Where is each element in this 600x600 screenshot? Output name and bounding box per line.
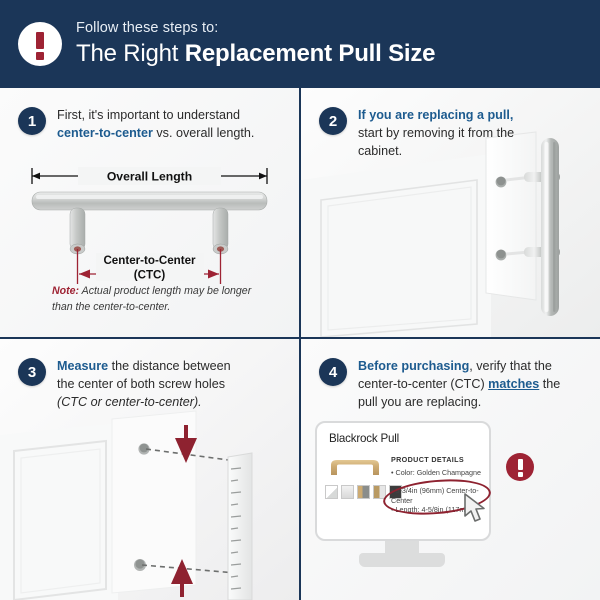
- note-body: Actual product length may be longer than…: [52, 285, 251, 313]
- step-4-text: Before purchasing, verify that the cente…: [358, 357, 583, 411]
- step-panel-2: 2 If you are replacing a pull, start by …: [301, 88, 600, 337]
- vertical-divider: [299, 88, 301, 600]
- step-panel-3: 3 Measure the distance between the cente…: [0, 339, 299, 600]
- step-2-text-part-1: If you are replacing a pull,: [358, 108, 513, 122]
- product-name: Blackrock Pull: [329, 432, 399, 445]
- step-number-1: 1: [18, 107, 46, 135]
- steps-grid: 1 First, it's important to understand ce…: [0, 88, 600, 600]
- header-banner: Follow these steps to: The Right Replace…: [0, 0, 600, 88]
- monitor-base: [359, 553, 445, 567]
- step-1-text-part-1: First, it's important to understand: [57, 108, 240, 122]
- step-panel-1: 1 First, it's important to understand ce…: [0, 88, 299, 337]
- header-text: Follow these steps to: The Right Replace…: [76, 20, 435, 67]
- step-1-text: First, it's important to understand cent…: [57, 106, 285, 142]
- step-2-head: 2 If you are replacing a pull, start by …: [301, 88, 600, 160]
- step-1-text-part-3: vs. overall length.: [153, 126, 255, 140]
- page-title: The Right Replacement Pull Size: [76, 41, 435, 67]
- title-light: The Right: [76, 40, 185, 67]
- title-bold: Replacement Pull Size: [185, 40, 436, 67]
- step-2-text: If you are replacing a pull, start by re…: [358, 106, 523, 160]
- detail-value-color: Golden Champagne: [417, 468, 481, 477]
- step-3-text-part-1: Measure: [57, 359, 108, 373]
- product-image: [327, 453, 383, 479]
- step-3-text: Measure the distance between the center …: [57, 357, 247, 411]
- product-page-illustration: Blackrock Pull: [301, 415, 600, 595]
- note-text: Note: Actual product length may be longe…: [52, 284, 267, 316]
- step-number-2: 2: [319, 107, 347, 135]
- mouse-pointer-icon: [463, 493, 489, 525]
- thumbnail-1[interactable]: [325, 485, 338, 499]
- product-details-heading: PRODUCT DETAILS: [391, 455, 464, 464]
- step-4-text-part-1: Before purchasing: [358, 359, 469, 373]
- step-panel-4: 4 Before purchasing, verify that the cen…: [301, 339, 600, 600]
- infographic-page: Follow these steps to: The Right Replace…: [0, 0, 600, 600]
- exclamation-icon: [18, 22, 62, 66]
- matches-link[interactable]: matches: [488, 377, 539, 391]
- step-2-text-part-2: start by removing it from the cabinet.: [358, 126, 514, 158]
- step-number-4: 4: [319, 358, 347, 386]
- header-kicker: Follow these steps to:: [76, 20, 435, 37]
- step-number-3: 3: [18, 358, 46, 386]
- overall-length-label: Overall Length: [107, 170, 192, 184]
- monitor-screen: Blackrock Pull: [315, 421, 491, 541]
- step-3-text-part-3: (CTC or center-to-center).: [57, 395, 202, 409]
- step-1-text-part-2: center-to-center: [57, 126, 153, 140]
- ctc-label-line1: Center-to-Center: [103, 254, 196, 267]
- exclamation-badge-icon: [506, 453, 534, 481]
- ctc-label-line2: (CTC): [134, 269, 166, 282]
- thumbnail-2[interactable]: [341, 485, 354, 499]
- product-detail-color: • Color:Golden Champagne: [391, 468, 487, 478]
- thumbnail-3[interactable]: [357, 485, 370, 499]
- step-4-head: 4 Before purchasing, verify that the cen…: [301, 339, 600, 411]
- note-label: Note:: [52, 285, 79, 297]
- detail-label-color: Color:: [396, 468, 415, 477]
- step-3-head: 3 Measure the distance between the cente…: [0, 339, 299, 411]
- step-1-head: 1 First, it's important to understand ce…: [0, 88, 299, 142]
